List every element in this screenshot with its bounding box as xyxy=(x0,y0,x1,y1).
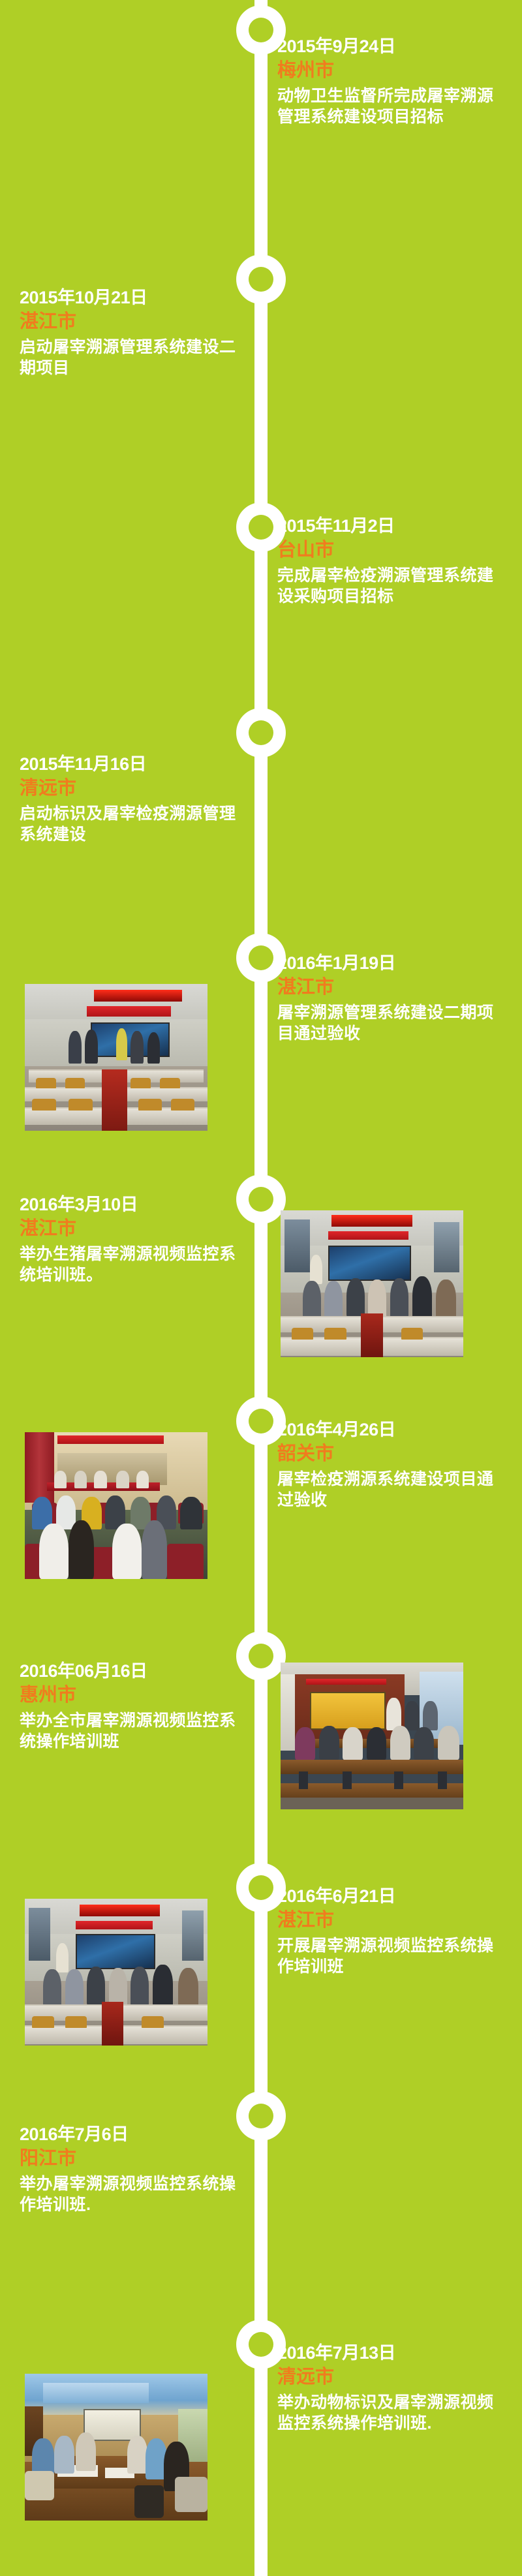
entry-date: 2016年7月13日 xyxy=(277,2342,502,2364)
entry-description: 举办全市屠宰溯源视频监控系统操作培训班 xyxy=(20,1710,245,1753)
entry-date: 2016年3月10日 xyxy=(20,1194,245,1216)
entry-date: 2015年9月24日 xyxy=(277,36,502,57)
timeline-entry-5[interactable]: 2016年1月19日 湛江市 屠宰溯源管理系统建设二期项目通过验收 xyxy=(277,953,502,1045)
photo-content xyxy=(281,1663,463,1809)
timeline-entry-8[interactable]: 2016年06月16日 惠州市 举办全市屠宰溯源视频监控系统操作培训班 xyxy=(20,1661,245,1753)
timeline-entry-4[interactable]: 2015年11月16日 清远市 启动标识及屠宰检疫溯源管理系统建设 xyxy=(20,754,245,846)
timeline-node-4[interactable] xyxy=(236,708,286,758)
entry-photo-5[interactable] xyxy=(25,984,207,1131)
entry-date: 2015年11月16日 xyxy=(20,754,245,775)
entry-city: 梅州市 xyxy=(277,59,502,84)
timeline-entry-2[interactable]: 2015年10月21日 湛江市 启动屠宰溯源管理系统建设二期项目 xyxy=(20,287,245,379)
entry-city: 清远市 xyxy=(20,776,245,801)
entry-city: 惠州市 xyxy=(20,1683,245,1708)
entry-description: 屠宰溯源管理系统建设二期项目通过验收 xyxy=(277,1002,502,1045)
timeline-entry-3[interactable]: 2015年11月2日 台山市 完成屠宰检疫溯源管理系统建设采购项目招标 xyxy=(277,515,502,607)
entry-description: 启动标识及屠宰检疫溯源管理系统建设 xyxy=(20,803,245,846)
entry-city: 韶关市 xyxy=(277,1442,502,1467)
photo-content xyxy=(25,2374,207,2521)
timeline-entry-10[interactable]: 2016年7月6日 阳江市 举办屠宰溯源视频监控系统操作培训班. xyxy=(20,2124,245,2216)
entry-city: 湛江市 xyxy=(20,1217,245,1242)
entry-date: 2016年7月6日 xyxy=(20,2124,245,2145)
entry-description: 动物卫生监督所完成屠宰溯源管理系统建设项目招标 xyxy=(277,85,502,128)
timeline-infographic: 2015年9月24日 梅州市 动物卫生监督所完成屠宰溯源管理系统建设项目招标 2… xyxy=(0,0,522,2576)
entry-date: 2015年10月21日 xyxy=(20,287,245,309)
photo-content xyxy=(281,1210,463,1357)
entry-description: 举办屠宰溯源视频监控系统操作培训班. xyxy=(20,2173,245,2216)
entry-description: 开展屠宰溯源视频监控系统操作培训班 xyxy=(277,1935,502,1978)
entry-photo-7[interactable] xyxy=(25,1432,207,1579)
timeline-entry-1[interactable]: 2015年9月24日 梅州市 动物卫生监督所完成屠宰溯源管理系统建设项目招标 xyxy=(277,36,502,128)
entry-city: 湛江市 xyxy=(20,310,245,335)
timeline-entry-9[interactable]: 2016年6月21日 湛江市 开展屠宰溯源视频监控系统操作培训班 xyxy=(277,1886,502,1978)
entry-date: 2016年1月19日 xyxy=(277,953,502,974)
timeline-spine xyxy=(254,0,268,2576)
entry-city: 清远市 xyxy=(277,2365,502,2390)
entry-date: 2016年6月21日 xyxy=(277,1886,502,1907)
entry-city: 阳江市 xyxy=(20,2147,245,2171)
entry-date: 2016年4月26日 xyxy=(277,1419,502,1441)
entry-description: 举办生猪屠宰溯源视频监控系统培训班。 xyxy=(20,1244,245,1286)
photo-content xyxy=(25,984,207,1131)
entry-photo-6[interactable] xyxy=(281,1210,463,1357)
photo-content xyxy=(25,1899,207,2046)
entry-description: 完成屠宰检疫溯源管理系统建设采购项目招标 xyxy=(277,565,502,607)
timeline-entry-11[interactable]: 2016年7月13日 清远市 举办动物标识及屠宰溯源视频监控系统操作培训班. xyxy=(277,2342,502,2434)
entry-description: 屠宰检疫溯源系统建设项目通过验收 xyxy=(277,1469,502,1511)
entry-city: 湛江市 xyxy=(277,1909,502,1933)
entry-photo-9[interactable] xyxy=(25,1899,207,2046)
entry-description: 启动屠宰溯源管理系统建设二期项目 xyxy=(20,337,245,379)
timeline-entry-7[interactable]: 2016年4月26日 韶关市 屠宰检疫溯源系统建设项目通过验收 xyxy=(277,1419,502,1511)
entry-city: 湛江市 xyxy=(277,975,502,1000)
entry-photo-11[interactable] xyxy=(25,2374,207,2521)
photo-content xyxy=(25,1432,207,1579)
timeline-entry-6[interactable]: 2016年3月10日 湛江市 举办生猪屠宰溯源视频监控系统培训班。 xyxy=(20,1194,245,1286)
entry-city: 台山市 xyxy=(277,538,502,563)
entry-date: 2016年06月16日 xyxy=(20,1661,245,1682)
entry-date: 2015年11月2日 xyxy=(277,515,502,537)
entry-photo-8[interactable] xyxy=(281,1663,463,1809)
entry-description: 举办动物标识及屠宰溯源视频监控系统操作培训班. xyxy=(277,2392,502,2434)
